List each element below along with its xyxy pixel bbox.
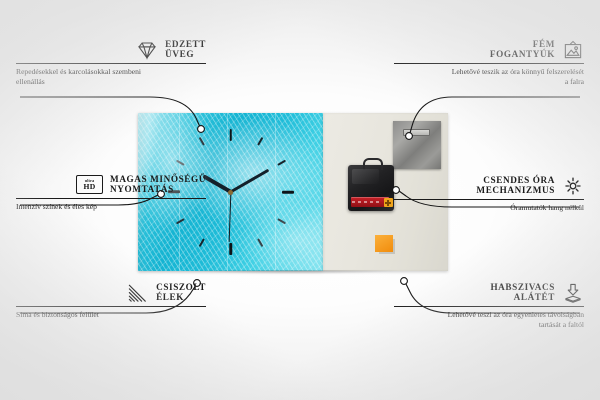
callout-metal-handles: FÉM FOGANTYÚK Lehetővé teszik az óra kön…: [394, 40, 584, 86]
second-hand: [228, 192, 231, 242]
ultra-hd-icon-main: HD: [84, 183, 96, 191]
callout-title-line2: ÜVEG: [165, 50, 194, 60]
callout-divider: [16, 198, 206, 199]
hanging-frame-icon: [562, 40, 584, 60]
callout-title-line2: ÉLEK: [156, 293, 184, 303]
callout-tempered-glass: EDZETT ÜVEG Repedésekkel és karcolásokka…: [16, 40, 206, 86]
minute-hand: [230, 169, 270, 194]
infographic-canvas: EDZETT ÜVEG Repedésekkel és karcolásokka…: [0, 0, 600, 400]
callout-hd-print: ultra HD MAGAS MINŐSÉGŰ NYOMTATÁS Intenz…: [16, 175, 206, 212]
callout-silent-mechanism: CSENDES ÓRA MECHANIZMUS Óramutatók hang …: [394, 176, 584, 213]
callout-title-line2: ALÁTÉT: [514, 293, 555, 303]
ultra-hd-icon: ultra HD: [76, 175, 103, 194]
callout-title-line2: NYOMTATÁS: [110, 185, 174, 195]
callout-description: Óramutatók hang nélkül: [450, 203, 584, 213]
callout-title-line2: FOGANTYÚK: [490, 50, 555, 60]
callout-description: Lehetővé teszi az óra egyenletes távolsá…: [434, 310, 584, 329]
diamond-icon: [136, 40, 158, 60]
gear-icon: [562, 176, 584, 196]
callout-foam-pad: HABSZIVACS ALÁTÉT Lehetővé teszi az óra …: [394, 283, 584, 329]
callout-description: Intenzív színek és éles kép: [16, 202, 156, 212]
metal-hanger-part: [393, 121, 441, 169]
callout-divider: [16, 306, 206, 307]
callout-divider: [394, 306, 584, 307]
callout-divider: [394, 199, 584, 200]
foam-pad-part: [375, 235, 393, 252]
callout-description: Sima és biztonságos felület: [16, 310, 156, 320]
hour-hand: [202, 174, 232, 193]
polished-edges-icon: [127, 283, 149, 303]
callout-divider: [16, 63, 206, 64]
callout-divider: [394, 63, 584, 64]
callout-description: Lehetővé teszik az óra könnyű felszerelé…: [450, 67, 584, 86]
product-shadow: [140, 270, 448, 280]
callout-title-line2: MECHANIZMUS: [476, 186, 555, 196]
clock-center-cap: [228, 190, 233, 195]
callout-description: Repedésekkel és karcolásokkal szembeni e…: [16, 67, 144, 86]
clock-mechanism-part: [348, 165, 394, 211]
press-pad-icon: [562, 283, 584, 303]
callout-polished-edges: CSISZOLT ÉLEK Sima és biztonságos felüle…: [16, 283, 206, 320]
